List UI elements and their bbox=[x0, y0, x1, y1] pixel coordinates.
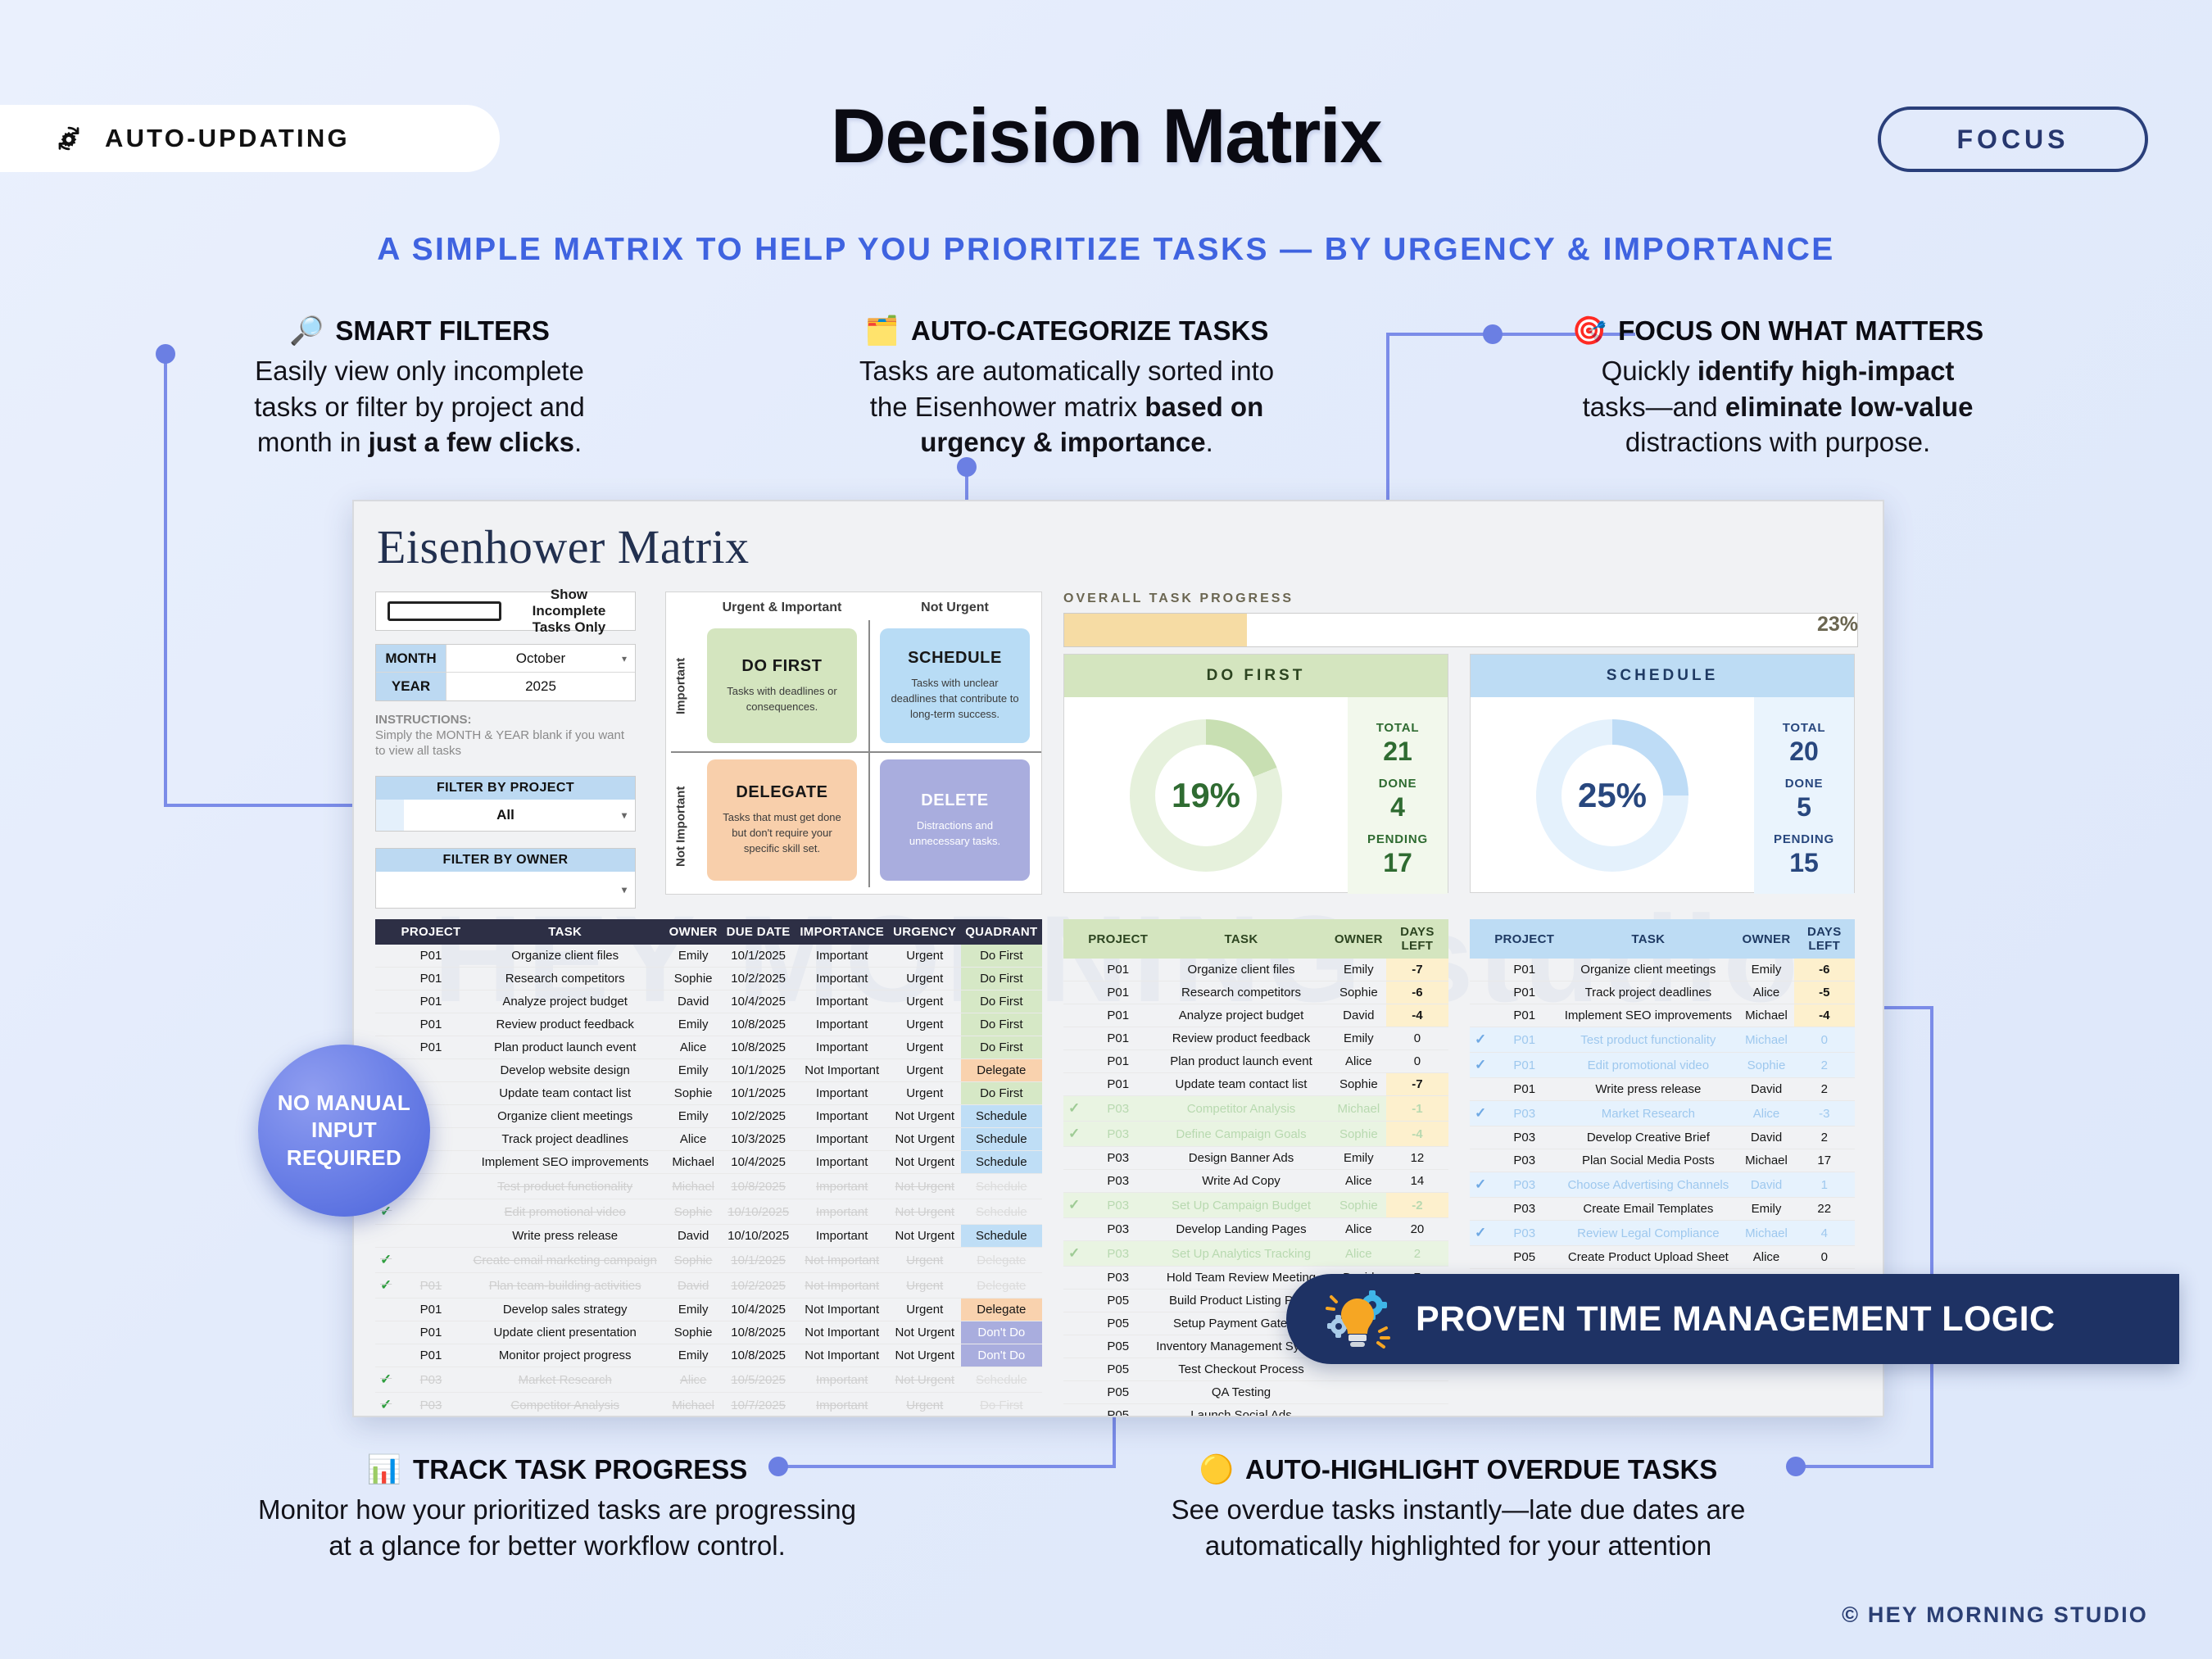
cell-importance[interactable]: Important bbox=[796, 1393, 889, 1418]
cell-due-date[interactable]: 10/4/2025 bbox=[722, 1151, 796, 1174]
table-row[interactable]: P01Analyze project budgetDavid-4 bbox=[1063, 1004, 1448, 1027]
cell-task[interactable]: Create email marketing campaign bbox=[465, 1248, 665, 1273]
cell-importance[interactable]: Important bbox=[796, 1013, 889, 1036]
table-row[interactable]: ✓P03Choose Advertising ChannelsDavid1 bbox=[1470, 1172, 1855, 1198]
table-row[interactable]: Organize client meetingsEmily10/2/2025Im… bbox=[375, 1105, 1042, 1128]
cell-task[interactable]: Write press release bbox=[465, 1225, 665, 1248]
table-row[interactable]: ✓P03Set Up Campaign BudgetSophie-2 bbox=[1063, 1193, 1448, 1218]
table-row[interactable]: P01Research competitorsSophie-6 bbox=[1063, 981, 1448, 1004]
cell-owner[interactable] bbox=[1331, 1381, 1386, 1404]
cell-days-left[interactable]: 4 bbox=[1794, 1221, 1856, 1246]
row-complete-check[interactable] bbox=[1470, 1078, 1491, 1101]
cell-project[interactable]: P05 bbox=[1085, 1312, 1151, 1335]
cell-project[interactable]: P03 bbox=[1085, 1241, 1151, 1267]
filter-by-project-value[interactable]: All ▾ bbox=[376, 800, 635, 831]
row-complete-check[interactable] bbox=[375, 1225, 397, 1248]
cell-days-left[interactable]: -6 bbox=[1794, 959, 1856, 981]
cell-task[interactable]: Market Research bbox=[1557, 1101, 1738, 1126]
cell-days-left[interactable]: -7 bbox=[1386, 1073, 1448, 1096]
row-complete-check[interactable] bbox=[1063, 1004, 1085, 1027]
column-header-days-left[interactable]: DAYS LEFT bbox=[1386, 919, 1448, 959]
row-complete-check[interactable] bbox=[375, 1344, 397, 1367]
cell-project[interactable]: P05 bbox=[1085, 1358, 1151, 1381]
cell-due-date[interactable]: 10/3/2025 bbox=[722, 1128, 796, 1151]
cell-urgency[interactable]: Not Urgent bbox=[889, 1344, 961, 1367]
cell-task[interactable]: Develop website design bbox=[465, 1059, 665, 1082]
row-complete-check[interactable] bbox=[1470, 981, 1491, 1004]
table-row[interactable]: P01Organize client meetingsEmily-6 bbox=[1470, 959, 1855, 981]
cell-owner[interactable]: Alice bbox=[665, 1367, 722, 1393]
cell-owner[interactable]: Alice bbox=[665, 1128, 722, 1151]
checkbox-icon[interactable] bbox=[388, 601, 501, 621]
cell-task[interactable]: Test product functionality bbox=[1557, 1027, 1738, 1053]
cell-urgency[interactable]: Not Urgent bbox=[889, 1321, 961, 1344]
cell-importance[interactable]: Not Important bbox=[796, 1344, 889, 1367]
cell-project[interactable]: P01 bbox=[397, 990, 465, 1013]
cell-owner[interactable]: Alice bbox=[1331, 1241, 1386, 1267]
row-complete-check[interactable] bbox=[1063, 1267, 1085, 1290]
cell-project[interactable]: P05 bbox=[1085, 1290, 1151, 1312]
cell-quadrant[interactable]: Schedule bbox=[961, 1367, 1042, 1393]
cell-owner[interactable] bbox=[1331, 1404, 1386, 1418]
cell-project[interactable]: P01 bbox=[1085, 981, 1151, 1004]
row-complete-check[interactable] bbox=[1063, 1312, 1085, 1335]
column-header-quadrant[interactable]: QUADRANT bbox=[961, 919, 1042, 945]
cell-project[interactable]: P01 bbox=[1085, 1050, 1151, 1073]
row-complete-check[interactable] bbox=[1470, 1246, 1491, 1269]
table-row[interactable]: P01Plan product launch eventAlice10/8/20… bbox=[375, 1036, 1042, 1059]
cell-days-left[interactable]: 2 bbox=[1794, 1078, 1856, 1101]
cell-task[interactable]: Write Ad Copy bbox=[1151, 1170, 1331, 1193]
cell-importance[interactable]: Not Important bbox=[796, 1299, 889, 1321]
cell-task[interactable]: Market Research bbox=[465, 1367, 665, 1393]
cell-owner[interactable]: Alice bbox=[1331, 1170, 1386, 1193]
cell-urgency[interactable]: Not Urgent bbox=[889, 1367, 961, 1393]
row-complete-check[interactable] bbox=[375, 990, 397, 1013]
cell-task[interactable]: Implement SEO improvements bbox=[1557, 1004, 1738, 1027]
cell-owner[interactable]: Emily bbox=[1331, 1147, 1386, 1170]
cell-project[interactable]: P03 bbox=[1491, 1221, 1557, 1246]
cell-urgency[interactable]: Urgent bbox=[889, 1248, 961, 1273]
table-row[interactable]: P01Develop sales strategyEmily10/4/2025N… bbox=[375, 1299, 1042, 1321]
table-row[interactable]: P05Launch Social Ads bbox=[1063, 1404, 1448, 1418]
year-value[interactable]: 2025 bbox=[446, 673, 635, 700]
cell-task[interactable]: Update team contact list bbox=[1151, 1073, 1331, 1096]
cell-project[interactable]: P01 bbox=[1491, 1027, 1557, 1053]
cell-task[interactable]: Set Up Campaign Budget bbox=[1151, 1193, 1331, 1218]
cell-due-date[interactable]: 10/4/2025 bbox=[722, 1299, 796, 1321]
cell-task[interactable]: Develop sales strategy bbox=[465, 1299, 665, 1321]
cell-project[interactable]: P03 bbox=[1085, 1147, 1151, 1170]
table-row[interactable]: P01Analyze project budgetDavid10/4/2025I… bbox=[375, 990, 1042, 1013]
cell-due-date[interactable]: 10/1/2025 bbox=[722, 1248, 796, 1273]
cell-days-left[interactable]: 2 bbox=[1386, 1241, 1448, 1267]
cell-urgency[interactable]: Not Urgent bbox=[889, 1151, 961, 1174]
cell-task[interactable]: Track project deadlines bbox=[1557, 981, 1738, 1004]
row-complete-check[interactable]: ✓ bbox=[1063, 1241, 1085, 1267]
cell-task[interactable]: Write press release bbox=[1557, 1078, 1738, 1101]
row-complete-check[interactable] bbox=[1063, 1404, 1085, 1418]
cell-project[interactable]: P01 bbox=[1491, 1053, 1557, 1078]
table-row[interactable]: P01Implement SEO improvementsMichael-4 bbox=[1470, 1004, 1855, 1027]
row-complete-check[interactable] bbox=[1470, 1149, 1491, 1172]
cell-importance[interactable]: Not Important bbox=[796, 1273, 889, 1299]
cell-importance[interactable]: Important bbox=[796, 968, 889, 990]
cell-days-left[interactable]: 0 bbox=[1386, 1050, 1448, 1073]
cell-days-left[interactable] bbox=[1386, 1404, 1448, 1418]
cell-due-date[interactable]: 10/8/2025 bbox=[722, 1344, 796, 1367]
cell-task[interactable]: Develop Creative Brief bbox=[1557, 1126, 1738, 1149]
row-complete-check[interactable] bbox=[1063, 1050, 1085, 1073]
cell-project[interactable]: P03 bbox=[1085, 1267, 1151, 1290]
table-row[interactable]: P01Track project deadlinesAlice-5 bbox=[1470, 981, 1855, 1004]
cell-quadrant[interactable]: Do First bbox=[961, 945, 1042, 968]
row-complete-check[interactable]: ✓ bbox=[1470, 1101, 1491, 1126]
row-complete-check[interactable]: ✓ bbox=[1063, 1122, 1085, 1147]
cell-owner[interactable]: Sophie bbox=[665, 1248, 722, 1273]
cell-quadrant[interactable]: Schedule bbox=[961, 1151, 1042, 1174]
cell-due-date[interactable]: 10/4/2025 bbox=[722, 990, 796, 1013]
cell-due-date[interactable]: 10/2/2025 bbox=[722, 1273, 796, 1299]
table-row[interactable]: ✓P03Review Legal ComplianceMichael4 bbox=[1470, 1221, 1855, 1246]
cell-quadrant[interactable]: Delegate bbox=[961, 1273, 1042, 1299]
cell-urgency[interactable]: Urgent bbox=[889, 1299, 961, 1321]
cell-project[interactable]: P01 bbox=[1085, 1073, 1151, 1096]
cell-due-date[interactable]: 10/1/2025 bbox=[722, 945, 796, 968]
cell-project[interactable] bbox=[397, 1225, 465, 1248]
cell-days-left[interactable]: 22 bbox=[1794, 1198, 1856, 1221]
cell-due-date[interactable]: 10/8/2025 bbox=[722, 1174, 796, 1199]
cell-importance[interactable]: Important bbox=[796, 1128, 889, 1151]
row-complete-check[interactable]: ✓ bbox=[1470, 1172, 1491, 1198]
row-complete-check[interactable] bbox=[1063, 1073, 1085, 1096]
cell-urgency[interactable]: Not Urgent bbox=[889, 1199, 961, 1225]
cell-days-left[interactable] bbox=[1386, 1381, 1448, 1404]
cell-days-left[interactable]: -4 bbox=[1386, 1004, 1448, 1027]
cell-owner[interactable]: Emily bbox=[665, 1059, 722, 1082]
cell-days-left[interactable]: 0 bbox=[1794, 1027, 1856, 1053]
cell-owner[interactable]: Sophie bbox=[1331, 1193, 1386, 1218]
cell-owner[interactable]: Michael bbox=[1739, 1221, 1794, 1246]
cell-owner[interactable]: David bbox=[1331, 1004, 1386, 1027]
cell-project[interactable]: P03 bbox=[1491, 1198, 1557, 1221]
table-row[interactable]: ✓Edit promotional videoSophie10/10/2025I… bbox=[375, 1199, 1042, 1225]
cell-urgency[interactable]: Urgent bbox=[889, 945, 961, 968]
cell-task[interactable]: Research competitors bbox=[465, 968, 665, 990]
cell-task[interactable]: Analyze project budget bbox=[1151, 1004, 1331, 1027]
cell-task[interactable]: Organize client files bbox=[1151, 959, 1331, 981]
cell-quadrant[interactable]: Do First bbox=[961, 1013, 1042, 1036]
cell-owner[interactable]: David bbox=[1739, 1172, 1794, 1198]
cell-task[interactable]: Implement SEO improvements bbox=[465, 1151, 665, 1174]
table-row[interactable]: Implement SEO improvementsMichael10/4/20… bbox=[375, 1151, 1042, 1174]
cell-owner[interactable]: David bbox=[1739, 1126, 1794, 1149]
table-row[interactable]: P01Organize client filesEmily-7 bbox=[1063, 959, 1448, 981]
cell-owner[interactable]: Sophie bbox=[1331, 1122, 1386, 1147]
cell-urgency[interactable]: Urgent bbox=[889, 968, 961, 990]
table-row[interactable]: Write press releaseDavid10/10/2025Import… bbox=[375, 1225, 1042, 1248]
cell-task[interactable]: Review product feedback bbox=[465, 1013, 665, 1036]
cell-urgency[interactable]: Not Urgent bbox=[889, 1225, 961, 1248]
cell-urgency[interactable]: Urgent bbox=[889, 1013, 961, 1036]
row-complete-check[interactable]: ✓ bbox=[1470, 1027, 1491, 1053]
cell-task[interactable]: Launch Social Ads bbox=[1151, 1404, 1331, 1418]
cell-owner[interactable]: Emily bbox=[665, 1344, 722, 1367]
table-row[interactable]: ✓P03Market ResearchAlice-3 bbox=[1470, 1101, 1855, 1126]
row-complete-check[interactable] bbox=[375, 945, 397, 968]
table-row[interactable]: ✓P01Edit promotional videoSophie2 bbox=[1470, 1053, 1855, 1078]
table-row[interactable]: P03Write Ad CopyAlice14 bbox=[1063, 1170, 1448, 1193]
cell-owner[interactable]: Sophie bbox=[665, 1321, 722, 1344]
table-row[interactable]: P01Review product feedbackEmily0 bbox=[1063, 1027, 1448, 1050]
cell-project[interactable]: P03 bbox=[1085, 1170, 1151, 1193]
cell-quadrant[interactable]: Don't Do bbox=[961, 1321, 1042, 1344]
cell-quadrant[interactable]: Don't Do bbox=[961, 1344, 1042, 1367]
cell-project[interactable]: P05 bbox=[1085, 1381, 1151, 1404]
column-header-importance[interactable]: IMPORTANCE bbox=[796, 919, 889, 945]
cell-project[interactable] bbox=[397, 1248, 465, 1273]
cell-owner[interactable]: Alice bbox=[1739, 1246, 1794, 1269]
cell-owner[interactable]: Alice bbox=[1739, 1101, 1794, 1126]
row-complete-check[interactable] bbox=[1063, 1358, 1085, 1381]
cell-task[interactable]: Plan product launch event bbox=[1151, 1050, 1331, 1073]
cell-days-left[interactable]: 0 bbox=[1794, 1246, 1856, 1269]
cell-urgency[interactable]: Not Urgent bbox=[889, 1174, 961, 1199]
cell-project[interactable]: P01 bbox=[1085, 959, 1151, 981]
row-complete-check[interactable]: ✓ bbox=[375, 1248, 397, 1273]
cell-task[interactable]: Create Product Upload Sheet bbox=[1557, 1246, 1738, 1269]
column-header-urgency[interactable]: URGENCY bbox=[889, 919, 961, 945]
cell-importance[interactable]: Not Important bbox=[796, 1321, 889, 1344]
cell-task[interactable]: Competitor Analysis bbox=[1151, 1096, 1331, 1122]
cell-project[interactable]: P01 bbox=[1491, 1078, 1557, 1101]
table-row[interactable]: P03Plan Social Media PostsMichael17 bbox=[1470, 1149, 1855, 1172]
column-header-task[interactable]: TASK bbox=[1151, 919, 1331, 959]
cell-project[interactable]: P01 bbox=[1491, 959, 1557, 981]
cell-days-left[interactable]: -4 bbox=[1794, 1004, 1856, 1027]
cell-project[interactable]: P01 bbox=[397, 968, 465, 990]
row-complete-check[interactable]: ✓ bbox=[1063, 1193, 1085, 1218]
cell-task[interactable]: Analyze project budget bbox=[465, 990, 665, 1013]
cell-owner[interactable]: Alice bbox=[1331, 1050, 1386, 1073]
cell-quadrant[interactable]: Do First bbox=[961, 990, 1042, 1013]
cell-project[interactable]: P03 bbox=[1491, 1126, 1557, 1149]
show-incomplete-tasks-checkbox-row[interactable]: Show Incomplete Tasks Only bbox=[375, 592, 636, 631]
table-row[interactable]: ✓P01Test product functionalityMichael0 bbox=[1470, 1027, 1855, 1053]
main-task-table[interactable]: PROJECTTASKOWNERDUE DATEIMPORTANCEURGENC… bbox=[375, 919, 1042, 1417]
cell-project[interactable]: P01 bbox=[397, 1344, 465, 1367]
table-row[interactable]: ✓P03Define Campaign GoalsSophie-4 bbox=[1063, 1122, 1448, 1147]
cell-owner[interactable]: Sophie bbox=[665, 1199, 722, 1225]
cell-project[interactable]: P01 bbox=[397, 1299, 465, 1321]
table-row[interactable]: P03Create Email TemplatesEmily22 bbox=[1470, 1198, 1855, 1221]
table-row[interactable]: P03Develop Landing PagesAlice20 bbox=[1063, 1218, 1448, 1241]
cell-project[interactable]: P01 bbox=[397, 1321, 465, 1344]
cell-due-date[interactable]: 10/5/2025 bbox=[722, 1367, 796, 1393]
cell-task[interactable]: Develop Landing Pages bbox=[1151, 1218, 1331, 1241]
month-row[interactable]: MONTH October ▾ bbox=[376, 645, 635, 673]
cell-project[interactable]: P01 bbox=[397, 945, 465, 968]
cell-days-left[interactable]: 12 bbox=[1386, 1147, 1448, 1170]
cell-owner[interactable]: Sophie bbox=[665, 968, 722, 990]
cell-task[interactable]: Choose Advertising Channels bbox=[1557, 1172, 1738, 1198]
cell-due-date[interactable]: 10/8/2025 bbox=[722, 1321, 796, 1344]
cell-task[interactable]: Research competitors bbox=[1151, 981, 1331, 1004]
table-row[interactable]: P01Organize client filesEmily10/1/2025Im… bbox=[375, 945, 1042, 968]
row-complete-check[interactable] bbox=[375, 968, 397, 990]
filter-panel[interactable]: Show Incomplete Tasks Only MONTH October… bbox=[375, 592, 636, 909]
cell-owner[interactable]: Emily bbox=[1331, 959, 1386, 981]
cell-task[interactable]: Define Campaign Goals bbox=[1151, 1122, 1331, 1147]
cell-urgency[interactable]: Not Urgent bbox=[889, 1128, 961, 1151]
cell-owner[interactable]: Alice bbox=[1739, 981, 1794, 1004]
cell-project[interactable]: P05 bbox=[1085, 1404, 1151, 1418]
cell-task[interactable]: Monitor project progress bbox=[465, 1344, 665, 1367]
row-complete-check[interactable]: ✓ bbox=[1063, 1096, 1085, 1122]
cell-importance[interactable]: Not Important bbox=[796, 1059, 889, 1082]
cell-owner[interactable]: Michael bbox=[665, 1174, 722, 1199]
table-row[interactable]: P03Design Banner AdsEmily12 bbox=[1063, 1147, 1448, 1170]
cell-project[interactable]: P03 bbox=[397, 1367, 465, 1393]
row-complete-check[interactable] bbox=[1470, 1126, 1491, 1149]
table-row[interactable]: ✓P03Market ResearchAlice10/5/2025Importa… bbox=[375, 1367, 1042, 1393]
cell-days-left[interactable]: 2 bbox=[1794, 1126, 1856, 1149]
cell-task[interactable]: Organize client meetings bbox=[465, 1105, 665, 1128]
cell-owner[interactable]: Emily bbox=[1331, 1027, 1386, 1050]
row-complete-check[interactable]: ✓ bbox=[375, 1393, 397, 1418]
column-header-task[interactable]: TASK bbox=[465, 919, 665, 945]
column-header-project[interactable]: PROJECT bbox=[1085, 919, 1151, 959]
cell-task[interactable]: Test Checkout Process bbox=[1151, 1358, 1331, 1381]
table-row[interactable]: ✓P03Set Up Analytics TrackingAlice2 bbox=[1063, 1241, 1448, 1267]
cell-days-left[interactable]: -7 bbox=[1386, 959, 1448, 981]
filter-by-project[interactable]: FILTER BY PROJECT All ▾ bbox=[375, 776, 636, 832]
table-row[interactable]: P01Write press releaseDavid2 bbox=[1470, 1078, 1855, 1101]
cell-owner[interactable]: Sophie bbox=[1739, 1053, 1794, 1078]
cell-quadrant[interactable]: Delegate bbox=[961, 1059, 1042, 1082]
cell-task[interactable]: Design Banner Ads bbox=[1151, 1147, 1331, 1170]
cell-importance[interactable]: Important bbox=[796, 1151, 889, 1174]
row-complete-check[interactable] bbox=[1063, 1027, 1085, 1050]
cell-quadrant[interactable]: Schedule bbox=[961, 1199, 1042, 1225]
chevron-down-icon[interactable]: ▾ bbox=[622, 653, 627, 664]
month-value[interactable]: October ▾ bbox=[446, 645, 635, 672]
cell-owner[interactable]: Michael bbox=[665, 1393, 722, 1418]
cell-quadrant[interactable]: Schedule bbox=[961, 1105, 1042, 1128]
cell-project[interactable]: P03 bbox=[1491, 1172, 1557, 1198]
cell-owner[interactable]: Alice bbox=[665, 1036, 722, 1059]
cell-urgency[interactable]: Urgent bbox=[889, 1273, 961, 1299]
cell-quadrant[interactable]: Do First bbox=[961, 1036, 1042, 1059]
cell-due-date[interactable]: 10/8/2025 bbox=[722, 1013, 796, 1036]
cell-days-left[interactable]: 2 bbox=[1794, 1053, 1856, 1078]
cell-owner[interactable]: Michael bbox=[1739, 1149, 1794, 1172]
cell-project[interactable]: P03 bbox=[1085, 1096, 1151, 1122]
row-complete-check[interactable] bbox=[1063, 1170, 1085, 1193]
row-complete-check[interactable]: ✓ bbox=[1470, 1221, 1491, 1246]
row-complete-check[interactable] bbox=[375, 1299, 397, 1321]
cell-task[interactable]: Organize client files bbox=[465, 945, 665, 968]
cell-owner[interactable]: Michael bbox=[1739, 1027, 1794, 1053]
row-complete-check[interactable] bbox=[1063, 959, 1085, 981]
cell-project[interactable]: P01 bbox=[1085, 1004, 1151, 1027]
cell-owner[interactable]: David bbox=[665, 1273, 722, 1299]
cell-importance[interactable]: Important bbox=[796, 1199, 889, 1225]
filter-by-owner[interactable]: FILTER BY OWNER ▾ bbox=[375, 848, 636, 909]
cell-owner[interactable]: Sophie bbox=[665, 1082, 722, 1105]
cell-task[interactable]: Edit promotional video bbox=[465, 1199, 665, 1225]
cell-owner[interactable]: Emily bbox=[665, 1013, 722, 1036]
cell-task[interactable]: Edit promotional video bbox=[1557, 1053, 1738, 1078]
row-complete-check[interactable] bbox=[1063, 1290, 1085, 1312]
cell-owner[interactable]: Emily bbox=[665, 1105, 722, 1128]
cell-task[interactable]: Test product functionality bbox=[465, 1174, 665, 1199]
cell-owner[interactable]: Michael bbox=[665, 1151, 722, 1174]
cell-project[interactable] bbox=[397, 1199, 465, 1225]
cell-importance[interactable]: Not Important bbox=[796, 1248, 889, 1273]
cell-urgency[interactable]: Urgent bbox=[889, 1393, 961, 1418]
row-complete-check[interactable] bbox=[1063, 1147, 1085, 1170]
cell-due-date[interactable]: 10/10/2025 bbox=[722, 1225, 796, 1248]
row-complete-check[interactable] bbox=[1063, 981, 1085, 1004]
cell-task[interactable]: QA Testing bbox=[1151, 1381, 1331, 1404]
cell-days-left[interactable]: -2 bbox=[1386, 1193, 1448, 1218]
column-header-project[interactable]: PROJECT bbox=[1491, 919, 1557, 959]
column-header-owner[interactable]: OWNER bbox=[1331, 919, 1386, 959]
cell-importance[interactable]: Important bbox=[796, 945, 889, 968]
cell-urgency[interactable]: Urgent bbox=[889, 990, 961, 1013]
cell-owner[interactable]: Emily bbox=[1739, 1198, 1794, 1221]
cell-task[interactable]: Plan team-building activities bbox=[465, 1273, 665, 1299]
cell-days-left[interactable]: -6 bbox=[1386, 981, 1448, 1004]
cell-urgency[interactable]: Urgent bbox=[889, 1059, 961, 1082]
cell-due-date[interactable]: 10/1/2025 bbox=[722, 1059, 796, 1082]
cell-days-left[interactable]: -3 bbox=[1794, 1101, 1856, 1126]
table-row[interactable]: P01Update client presentationSophie10/8/… bbox=[375, 1321, 1042, 1344]
cell-project[interactable]: P05 bbox=[1491, 1246, 1557, 1269]
cell-quadrant[interactable]: Schedule bbox=[961, 1174, 1042, 1199]
table-row[interactable]: P01Update team contact listSophie-7 bbox=[1063, 1073, 1448, 1096]
column-header-owner[interactable]: OWNER bbox=[1739, 919, 1794, 959]
chevron-down-icon[interactable]: ▾ bbox=[622, 809, 627, 821]
cell-days-left[interactable]: -4 bbox=[1386, 1122, 1448, 1147]
cell-due-date[interactable]: 10/1/2025 bbox=[722, 1082, 796, 1105]
cell-due-date[interactable]: 10/7/2025 bbox=[722, 1393, 796, 1418]
cell-task[interactable]: Organize client meetings bbox=[1557, 959, 1738, 981]
cell-urgency[interactable]: Urgent bbox=[889, 1036, 961, 1059]
cell-importance[interactable]: Important bbox=[796, 990, 889, 1013]
cell-days-left[interactable]: -5 bbox=[1794, 981, 1856, 1004]
cell-task[interactable]: Plan Social Media Posts bbox=[1557, 1149, 1738, 1172]
cell-project[interactable]: P03 bbox=[1085, 1193, 1151, 1218]
cell-project[interactable]: P05 bbox=[1085, 1335, 1151, 1358]
filter-by-owner-value[interactable]: ▾ bbox=[376, 872, 635, 908]
table-row[interactable]: Update team contact listSophie10/1/2025I… bbox=[375, 1082, 1042, 1105]
cell-task[interactable]: Track project deadlines bbox=[465, 1128, 665, 1151]
row-complete-check[interactable] bbox=[1470, 1004, 1491, 1027]
table-row[interactable]: Develop website designEmily10/1/2025Not … bbox=[375, 1059, 1042, 1082]
cell-project[interactable]: P03 bbox=[1085, 1218, 1151, 1241]
cell-quadrant[interactable]: Schedule bbox=[961, 1225, 1042, 1248]
row-complete-check[interactable] bbox=[375, 1013, 397, 1036]
cell-importance[interactable]: Important bbox=[796, 1367, 889, 1393]
cell-task[interactable]: Update team contact list bbox=[465, 1082, 665, 1105]
cell-quadrant[interactable]: Delegate bbox=[961, 1248, 1042, 1273]
cell-task[interactable]: Update client presentation bbox=[465, 1321, 665, 1344]
cell-due-date[interactable]: 10/2/2025 bbox=[722, 1105, 796, 1128]
table-row[interactable]: ✓P03Competitor AnalysisMichael-1 bbox=[1063, 1096, 1448, 1122]
row-complete-check[interactable] bbox=[1063, 1335, 1085, 1358]
